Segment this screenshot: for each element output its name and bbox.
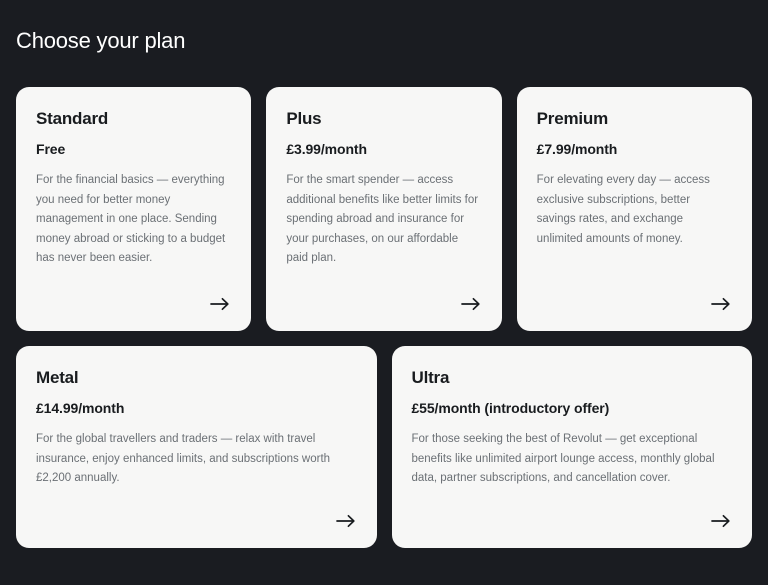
plan-row-top: Standard Free For the financial basics —…: [16, 87, 752, 331]
plan-price: Free: [36, 141, 231, 158]
plan-card-standard[interactable]: Standard Free For the financial basics —…: [16, 87, 251, 331]
plan-card-metal[interactable]: Metal £14.99/month For the global travel…: [16, 346, 377, 548]
plan-price: £14.99/month: [36, 400, 357, 417]
plan-price: £3.99/month: [286, 141, 481, 158]
arrow-right-icon[interactable]: [209, 293, 231, 315]
plan-price: £7.99/month: [537, 141, 732, 158]
plan-description: For the smart spender — access additiona…: [286, 171, 481, 269]
plan-description: For those seeking the best of Revolut — …: [412, 430, 733, 489]
plan-name: Metal: [36, 368, 357, 388]
plan-name: Ultra: [412, 368, 733, 388]
plan-price: £55/month (introductory offer): [412, 400, 733, 417]
arrow-right-icon[interactable]: [335, 510, 357, 532]
plan-grid: Standard Free For the financial basics —…: [16, 87, 752, 548]
plan-description: For the global travellers and traders — …: [36, 430, 357, 489]
plan-card-plus[interactable]: Plus £3.99/month For the smart spender —…: [266, 87, 501, 331]
plan-description: For elevating every day — access exclusi…: [537, 171, 732, 249]
plan-name: Standard: [36, 109, 231, 129]
plan-name: Premium: [537, 109, 732, 129]
plan-row-bottom: Metal £14.99/month For the global travel…: [16, 346, 752, 548]
arrow-right-icon[interactable]: [710, 510, 732, 532]
plan-chooser-screen: Choose your plan Standard Free For the f…: [0, 0, 768, 585]
plan-card-ultra[interactable]: Ultra £55/month (introductory offer) For…: [392, 346, 753, 548]
plan-card-premium[interactable]: Premium £7.99/month For elevating every …: [517, 87, 752, 331]
arrow-right-icon[interactable]: [710, 293, 732, 315]
arrow-right-icon[interactable]: [460, 293, 482, 315]
page-title: Choose your plan: [16, 0, 752, 52]
plan-name: Plus: [286, 109, 481, 129]
plan-description: For the financial basics — everything yo…: [36, 171, 231, 269]
